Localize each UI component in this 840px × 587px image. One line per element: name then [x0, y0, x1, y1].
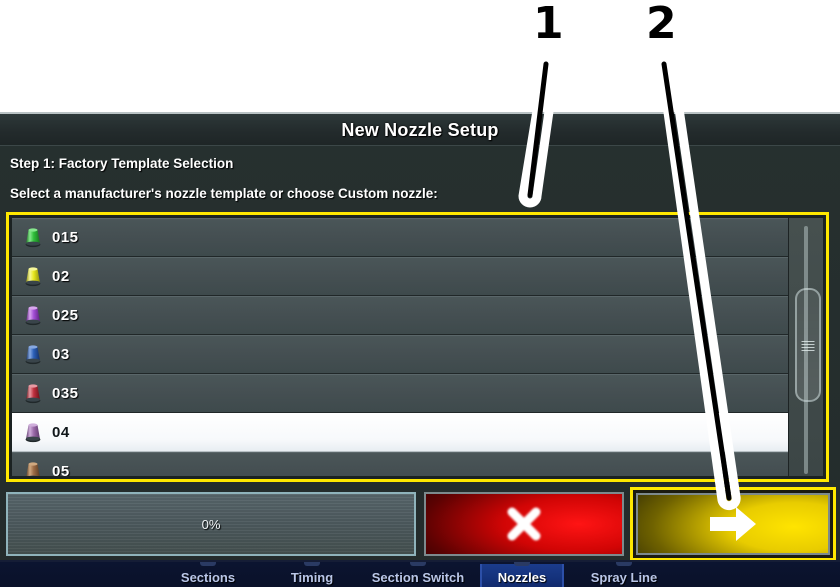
nozzle-row-04[interactable]: 04 — [12, 413, 795, 452]
nav-tab-timing[interactable]: Timing — [268, 564, 356, 587]
dialog-title: New Nozzle Setup — [0, 114, 840, 146]
scrollbar-grip-icon — [802, 339, 815, 351]
dialog-titlebar: New Nozzle Setup — [0, 114, 840, 146]
next-button-highlight — [630, 487, 836, 561]
nozzle-row-label: 04 — [52, 424, 70, 441]
nozzle-icon-yellow — [20, 264, 46, 290]
nozzle-row-label: 05 — [52, 463, 70, 476]
scrollbar-thumb[interactable] — [795, 288, 821, 402]
step-instruction: Select a manufacturer's nozzle template … — [10, 186, 438, 201]
nav-tab-nub — [514, 562, 530, 566]
bottom-nav-bar: SectionsTimingSection SwitchNozzlesSpray… — [0, 560, 840, 587]
nozzle-row-03[interactable]: 03 — [12, 335, 795, 374]
cancel-button[interactable] — [424, 492, 624, 556]
progress-label: 0% — [202, 517, 221, 532]
nozzle-template-list-highlight: 01502025030350405 — [6, 212, 829, 482]
nav-tab-nub — [200, 562, 216, 566]
nozzle-row-label: 025 — [52, 307, 79, 324]
nav-tab-spray-line[interactable]: Spray Line — [572, 564, 676, 587]
nav-tab-nozzles[interactable]: Nozzles — [480, 564, 564, 587]
nozzle-row-label: 035 — [52, 385, 79, 402]
step-title: Step 1: Factory Template Selection — [10, 156, 233, 171]
nozzle-icon-purple — [20, 303, 46, 329]
nozzle-icon-green — [20, 225, 46, 251]
nozzle-icon-blue — [20, 342, 46, 368]
nozzle-row-label: 015 — [52, 229, 79, 246]
right-arrow-icon — [704, 502, 762, 546]
nozzle-template-rows[interactable]: 01502025030350405 — [12, 218, 795, 476]
nav-tab-sections[interactable]: Sections — [160, 564, 256, 587]
nozzle-icon-brown — [20, 459, 46, 477]
vertical-scrollbar[interactable] — [788, 218, 823, 476]
nozzle-row-02[interactable]: 02 — [12, 257, 795, 296]
x-mark-icon — [501, 501, 547, 547]
nozzle-row-035[interactable]: 035 — [12, 374, 795, 413]
nav-tab-section-switch[interactable]: Section Switch — [358, 564, 478, 587]
dialog-button-bar: 0% — [0, 486, 840, 562]
nav-tab-nub — [410, 562, 426, 566]
nozzle-icon-red — [20, 381, 46, 407]
nozzle-row-05[interactable]: 05 — [12, 452, 795, 476]
nozzle-row-025[interactable]: 025 — [12, 296, 795, 335]
nav-tab-nub — [304, 562, 320, 566]
screen: New Nozzle Setup Step 1: Factory Templat… — [0, 0, 840, 587]
next-button[interactable] — [636, 493, 830, 555]
nozzle-icon-violet — [20, 420, 46, 446]
nozzle-row-label: 02 — [52, 268, 70, 285]
nozzle-row-015[interactable]: 015 — [12, 218, 795, 257]
new-nozzle-setup-dialog: New Nozzle Setup Step 1: Factory Templat… — [0, 112, 840, 560]
nozzle-row-label: 03 — [52, 346, 70, 363]
callout-number-1: 1 — [533, 2, 564, 46]
nav-tab-nub — [616, 562, 632, 566]
progress-bar: 0% — [6, 492, 416, 556]
nozzle-template-list[interactable]: 01502025030350405 — [12, 218, 823, 476]
callout-number-2: 2 — [646, 2, 677, 46]
